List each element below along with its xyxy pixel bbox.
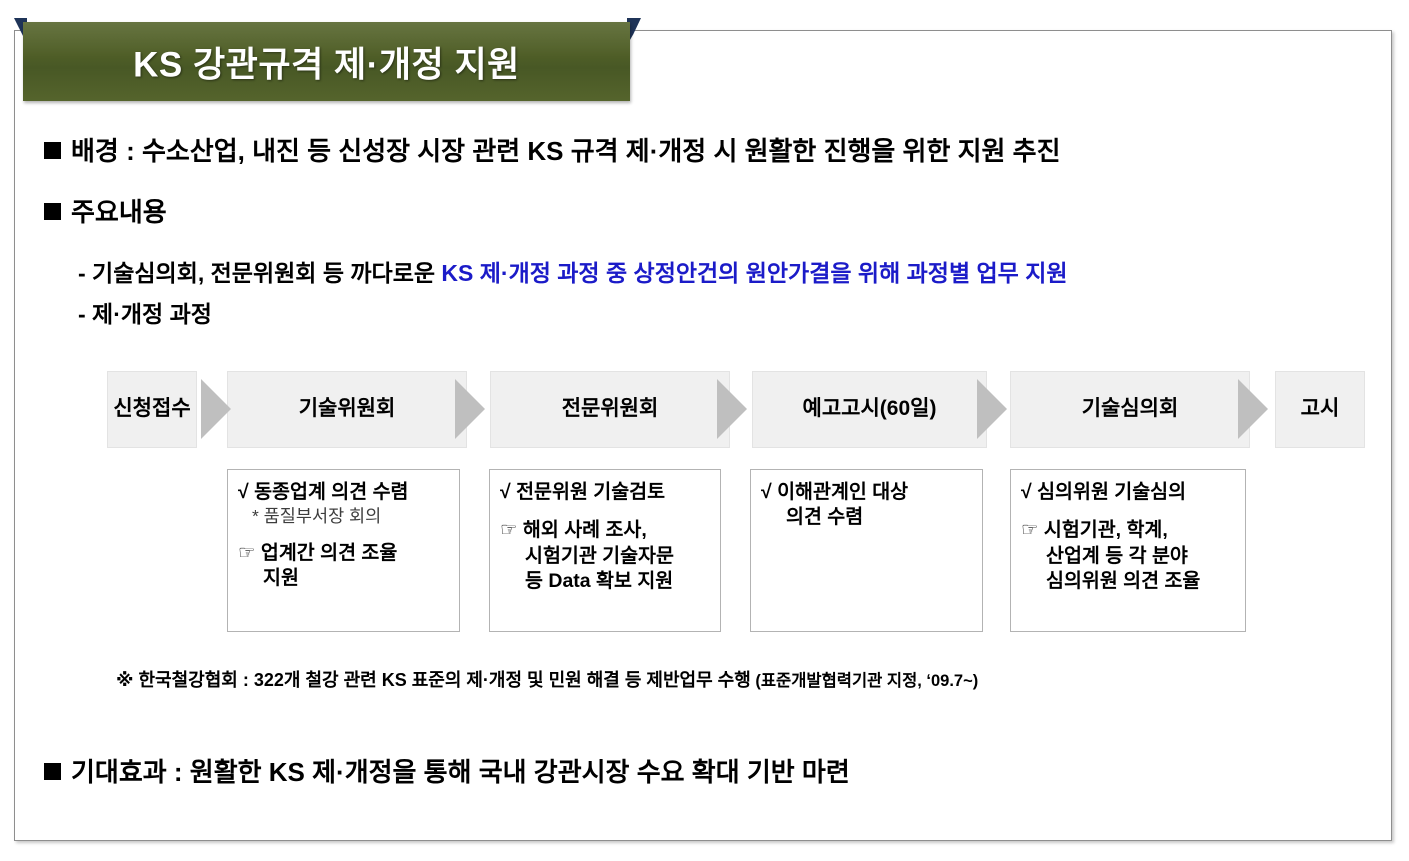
footnote-paren: (표준개발협력기관 지정, ʻ09.7~) xyxy=(751,672,978,690)
detail-support-line: 지원 xyxy=(238,566,451,591)
detail-box-3: √ 이해관계인 대상의견 수렴 xyxy=(750,469,983,632)
pointing-hand-icon-line: ☞ 해외 사례 조사, xyxy=(500,518,712,543)
flow-step-2: 기술위원회 xyxy=(227,371,467,448)
title-banner: KS 강관규격 제·개정 지원 xyxy=(23,18,630,101)
flow-step-4: 예고고시(60일) xyxy=(752,371,987,448)
detail-support-line: 등 Data 확보 지원 xyxy=(500,569,712,594)
square-bullet-icon xyxy=(44,142,61,159)
flow-step-1: 신청접수 xyxy=(107,371,197,448)
footnote: ※ 한국철강협회 : 322개 철강 관련 KS 표준의 제·개정 및 민원 해… xyxy=(116,666,978,692)
slide-title: KS 강관규격 제·개정 지원 xyxy=(23,36,630,87)
flow-step-label: (60일) xyxy=(880,397,937,422)
flow-step-label: 전문위원회 xyxy=(562,397,659,422)
flow-step-5: 기술심의회 xyxy=(1010,371,1250,448)
flow-arrow-icon-3 xyxy=(717,379,747,439)
square-bullet-icon xyxy=(44,203,61,220)
detail-spacer xyxy=(1021,505,1237,518)
sub-bullet-1-highlight: KS 제·개정 과정 중 상정안건의 원안가결을 위해 과정별 업무 지원 xyxy=(441,260,1067,286)
sub-bullet-1-prefix: - 기술심의회, 전문위원회 등 까다로운 xyxy=(78,260,441,286)
detail-box-4: √ 심의위원 기술심의☞ 시험기관, 학계,산업계 등 각 분야심의위원 의견 … xyxy=(1010,469,1246,632)
flow-step-3: 전문위원회 xyxy=(490,371,730,448)
detail-spacer xyxy=(500,505,712,518)
flow-step-label: 고시 xyxy=(1301,397,1340,422)
flow-arrow-icon-4 xyxy=(977,379,1007,439)
detail-support-line: 심의위원 의견 조율 xyxy=(1021,569,1237,594)
detail-check-line: √ 이해관계인 대상 xyxy=(761,480,974,505)
flow-step-label: 기술위원회 xyxy=(299,397,396,422)
square-bullet-icon xyxy=(44,763,61,780)
detail-support-line: 시험기관 기술자문 xyxy=(500,544,712,569)
flow-step-label: 접수 xyxy=(152,397,191,422)
detail-check-line: √ 심의위원 기술심의 xyxy=(1021,480,1237,505)
detail-box-2: √ 전문위원 기술검토☞ 해외 사례 조사,시험기관 기술자문등 Data 확보… xyxy=(489,469,721,632)
background-bullet: 배경 : 수소산업, 내진 등 신성장 시장 관련 KS 규격 제·개정 시 원… xyxy=(44,131,1061,168)
flow-arrow-icon-5 xyxy=(1238,379,1268,439)
sub-bullet-2-text: - 제·개정 과정 xyxy=(78,301,212,327)
detail-support-line: 산업계 등 각 분야 xyxy=(1021,544,1237,569)
detail-note: * 품질부서장 회의 xyxy=(238,505,451,528)
process-flow-diagram: 신청접수기술위원회전문위원회예고고시(60일)기술심의회고시 xyxy=(107,371,1365,448)
expected-effect-bullet: 기대효과 : 원활한 KS 제·개정을 통해 국내 강관시장 수요 확대 기반 … xyxy=(44,752,850,789)
pointing-hand-icon-line: ☞ 시험기관, 학계, xyxy=(1021,518,1237,543)
detail-check-line-2: 의견 수렴 xyxy=(761,505,974,530)
detail-box-1: √ 동종업계 의견 수렴* 품질부서장 회의☞ 업계간 의견 조율지원 xyxy=(227,469,460,632)
footnote-text: ※ 한국철강협회 : 322개 철강 관련 KS 표준의 제·개정 및 민원 해… xyxy=(116,670,751,690)
flow-step-label: 기술심의회 xyxy=(1082,397,1179,422)
flow-step-label: 신청 xyxy=(113,397,152,422)
sub-bullet-2: - 제·개정 과정 xyxy=(78,295,212,329)
main-content-heading: 주요내용 xyxy=(44,192,167,229)
detail-spacer xyxy=(238,528,451,541)
expected-effect-text: 기대효과 : 원활한 KS 제·개정을 통해 국내 강관시장 수요 확대 기반 … xyxy=(71,757,850,787)
pointing-hand-icon-line: ☞ 업계간 의견 조율 xyxy=(238,541,451,566)
sub-bullet-1: - 기술심의회, 전문위원회 등 까다로운 KS 제·개정 과정 중 상정안건의… xyxy=(78,254,1068,288)
title-banner-background: KS 강관규격 제·개정 지원 xyxy=(23,22,630,101)
detail-check-line: √ 전문위원 기술검토 xyxy=(500,480,712,505)
detail-check-line: √ 동종업계 의견 수렴 xyxy=(238,480,451,505)
main-content-heading-text: 주요내용 xyxy=(71,197,167,227)
flow-step-6: 고시 xyxy=(1275,371,1365,448)
background-bullet-text: 배경 : 수소산업, 내진 등 신성장 시장 관련 KS 규격 제·개정 시 원… xyxy=(71,136,1061,166)
flow-step-label: 예고고시 xyxy=(803,397,880,422)
flow-arrow-icon-2 xyxy=(455,379,485,439)
